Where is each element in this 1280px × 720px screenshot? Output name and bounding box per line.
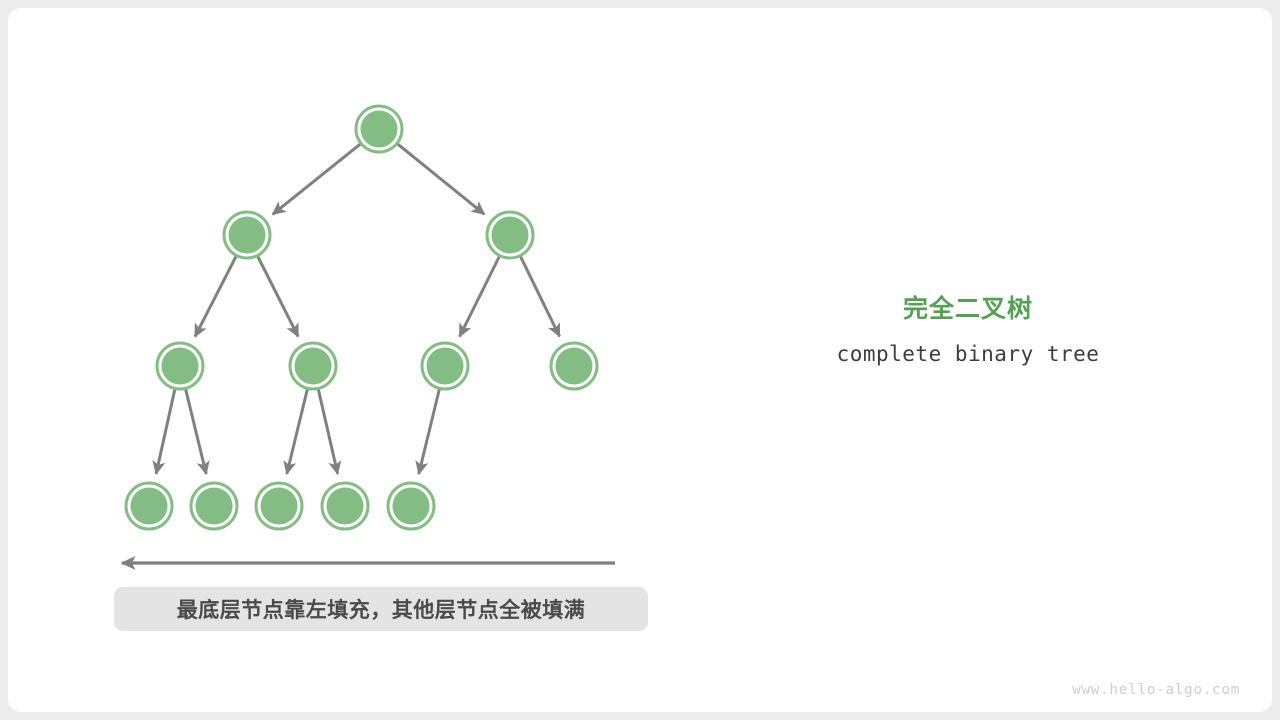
node-fill (196, 488, 233, 525)
footer-url: www.hello-algo.com (1072, 682, 1240, 698)
node-fill (229, 217, 266, 254)
node-fill (492, 217, 529, 254)
node-fill (393, 488, 430, 525)
node-fill (162, 348, 199, 385)
tree-edge (318, 389, 337, 473)
node-fill (261, 488, 298, 525)
node-fill (427, 348, 464, 385)
tree-edge (156, 389, 175, 473)
tree-edges (156, 144, 559, 474)
tree-edge (521, 257, 560, 337)
tree-nodes (126, 106, 597, 529)
tree-node (388, 483, 434, 529)
tree-edge (195, 256, 236, 336)
tree-node (157, 343, 203, 389)
tree-node (224, 212, 270, 258)
tree-node (487, 212, 533, 258)
node-fill (327, 488, 364, 525)
tree-node (290, 343, 336, 389)
tree-node (356, 106, 402, 152)
tree-edge (273, 144, 361, 214)
tree-node (191, 483, 237, 529)
node-fill (556, 348, 593, 385)
tree-edge (186, 389, 207, 474)
tree-edge (460, 256, 500, 336)
tree-node (256, 483, 302, 529)
tree-node (322, 483, 368, 529)
node-fill (361, 111, 398, 148)
node-fill (131, 488, 168, 525)
diagram-canvas: 完全二叉树 complete binary tree 最底层节点靠左填充，其他层… (0, 0, 1280, 720)
caption-text: 最底层节点靠左填充，其他层节点全被填满 (177, 594, 586, 624)
tree-edge (419, 389, 440, 474)
tree-node (422, 343, 468, 389)
legend-subtitle: complete binary tree (768, 342, 1168, 366)
tree-edge (258, 256, 298, 336)
tree-node (126, 483, 172, 529)
legend-block: 完全二叉树 complete binary tree (768, 292, 1168, 366)
caption-pill: 最底层节点靠左填充，其他层节点全被填满 (114, 587, 648, 631)
tree-edge (287, 389, 308, 474)
tree-edge (398, 144, 485, 214)
tree-node (551, 343, 597, 389)
node-fill (295, 348, 332, 385)
legend-title: 完全二叉树 (768, 292, 1168, 326)
